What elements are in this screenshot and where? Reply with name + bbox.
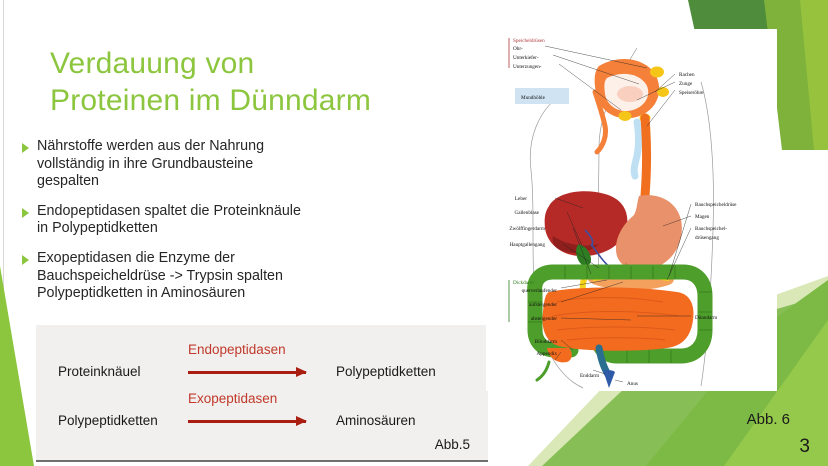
left-edge-line [3,0,4,466]
slide: Verdauung von Proteinen im Dünndarm Nähr… [0,0,828,466]
list-item: Nährstoffe werden aus der Nahrung vollst… [22,138,452,191]
anatomy-label-querverlaufender: querverlaufender [522,287,558,294]
title-line-1: Verdauung von [50,45,470,82]
anatomy-label-duenndarm: Dünndarm [695,315,717,321]
anatomy-label-unterzungen: Unterzungen- [513,64,542,70]
bullet-text: Nährstoffe werden aus der Nahrung vollst… [37,138,264,191]
anatomy-label-anus: Anus [627,381,638,387]
triangle-bullet-icon [22,255,29,265]
anatomy-label-druesengang: drüsengang [695,235,719,241]
triangle-bullet-icon [22,143,29,153]
reaction-enzyme-1: Endopeptidasen [188,342,286,357]
anatomy-label-absteigender: absteigender [531,316,557,322]
reaction-substrate-2: Polypeptidketten [58,413,158,428]
reaction-substrate-1: Proteinknäuel [58,364,141,379]
anatomy-label-magen: Magen [695,214,710,220]
reaction-arrow-1 [188,369,306,375]
list-item: Endopeptidasen spaltet die Proteinknäule… [22,203,452,238]
figure-caption-abb5: Abb.5 [435,437,470,452]
anatomy-label-dickdarm: Dickdarm [513,280,534,286]
reaction-arrow-2 [188,418,306,424]
anatomy-label-ohr: Ohr- [513,46,523,52]
anatomy-label-rachen: Rachen [679,72,695,78]
anatomy-label-hauptgallengang: Hauptgallengang [510,242,546,248]
anatomy-label-bauchspeicheldruese: Bauchspeicheldrüse [695,202,737,208]
anatomy-label-speicheldruesen: Speicheldrüsen [513,38,545,44]
bullet-text: Exopeptidasen die Enzyme der Bauchspeich… [37,250,283,303]
anatomy-label-mundhoehle: Mundhöhle [521,95,546,101]
anatomy-label-zwoelffingerdarm: Zwölffingerdarm [509,225,545,232]
anatomy-label-gallenblase: Gallenblase [515,210,540,216]
anatomy-label-appendix: Appendix [537,351,558,357]
anatomy-label-enddarm: Enddarm [580,373,599,379]
anatomy-label-bauchspeichel: Bauchspeichel- [695,226,727,232]
reaction-product-1: Polypeptidketten [336,364,436,379]
anatomy-label-speiseroehre: Speiseröhre [679,90,704,96]
anatomy-label-unterkiefer: Unterkiefer- [513,54,539,61]
reaction-figure: Proteinknäuel Endopeptidasen Polypeptidk… [36,325,488,462]
bullet-text: Endopeptidasen spaltet die Proteinknäule… [37,203,301,238]
bullet-list: Nährstoffe werden aus der Nahrung vollst… [22,138,452,315]
anatomy-label-blinddarm: Blinddarm [535,339,557,345]
anatomy-label-leber: Leber [515,196,527,202]
figure-caption-abb6: Abb. 6 [747,411,790,428]
triangle-bullet-icon [22,208,29,218]
page-number: 3 [799,436,810,458]
reaction-product-2: Aminosäuren [336,413,416,428]
reaction-enzyme-2: Exopeptidasen [188,391,277,406]
digestive-system-figure: Speicheldrüsen Ohr- Unterkiefer- Unterzu… [487,30,776,390]
anatomy-label-zunge: Zunge [679,81,693,87]
title-line-2: Proteinen im Dünndarm [50,82,470,119]
list-item: Exopeptidasen die Enzyme der Bauchspeich… [22,250,452,303]
anatomy-label-aufsteigender: aufsteigender [529,301,557,308]
page-title: Verdauung von Proteinen im Dünndarm [50,45,470,119]
